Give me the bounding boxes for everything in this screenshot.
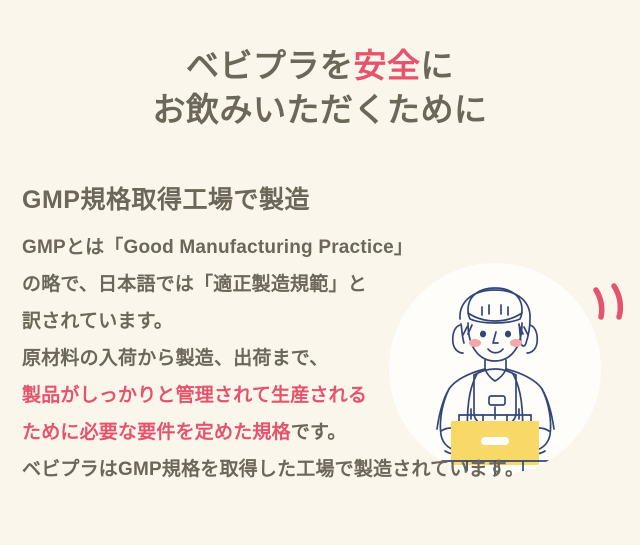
page-title: ベビプラを安全に お飲みいただくために: [0, 44, 640, 131]
body-line: GMPとは「Good Manufacturing Practice」: [22, 229, 622, 266]
body-line-segment-red: ために必要な要件を定めた規格: [22, 423, 291, 442]
body-line: ベビプラはGMP規格を取得した工場で製造されています。: [22, 451, 622, 488]
page-title-line-1-before: ベビプラを: [186, 47, 354, 84]
page-root: ベビプラを安全に お飲みいただくために: [0, 0, 640, 545]
body-text-list: GMPとは「Good Manufacturing Practice」 の略で、日…: [22, 229, 622, 488]
body-line: 原材料の入荷から製造、出荷まで、: [22, 340, 622, 377]
content-section: GMP規格取得工場で製造 GMPとは「Good Manufacturing Pr…: [22, 185, 622, 488]
page-title-line-1: ベビプラを安全に: [0, 44, 640, 88]
body-line-segment-dark: です。: [291, 423, 347, 442]
page-title-line-1-after: に: [421, 47, 455, 84]
body-line: の略で、日本語では「適正製造規範」と: [22, 266, 622, 303]
section-heading: GMP規格取得工場で製造: [22, 185, 622, 215]
page-title-line-2: お飲みいただくために: [0, 88, 640, 132]
body-line-highlight: 製品がしっかりと管理されて生産される: [22, 377, 622, 414]
page-title-accent: 安全: [354, 47, 421, 84]
body-line-mixed: ために必要な要件を定めた規格です。: [22, 414, 622, 451]
body-line: 訳されています。: [22, 303, 622, 340]
